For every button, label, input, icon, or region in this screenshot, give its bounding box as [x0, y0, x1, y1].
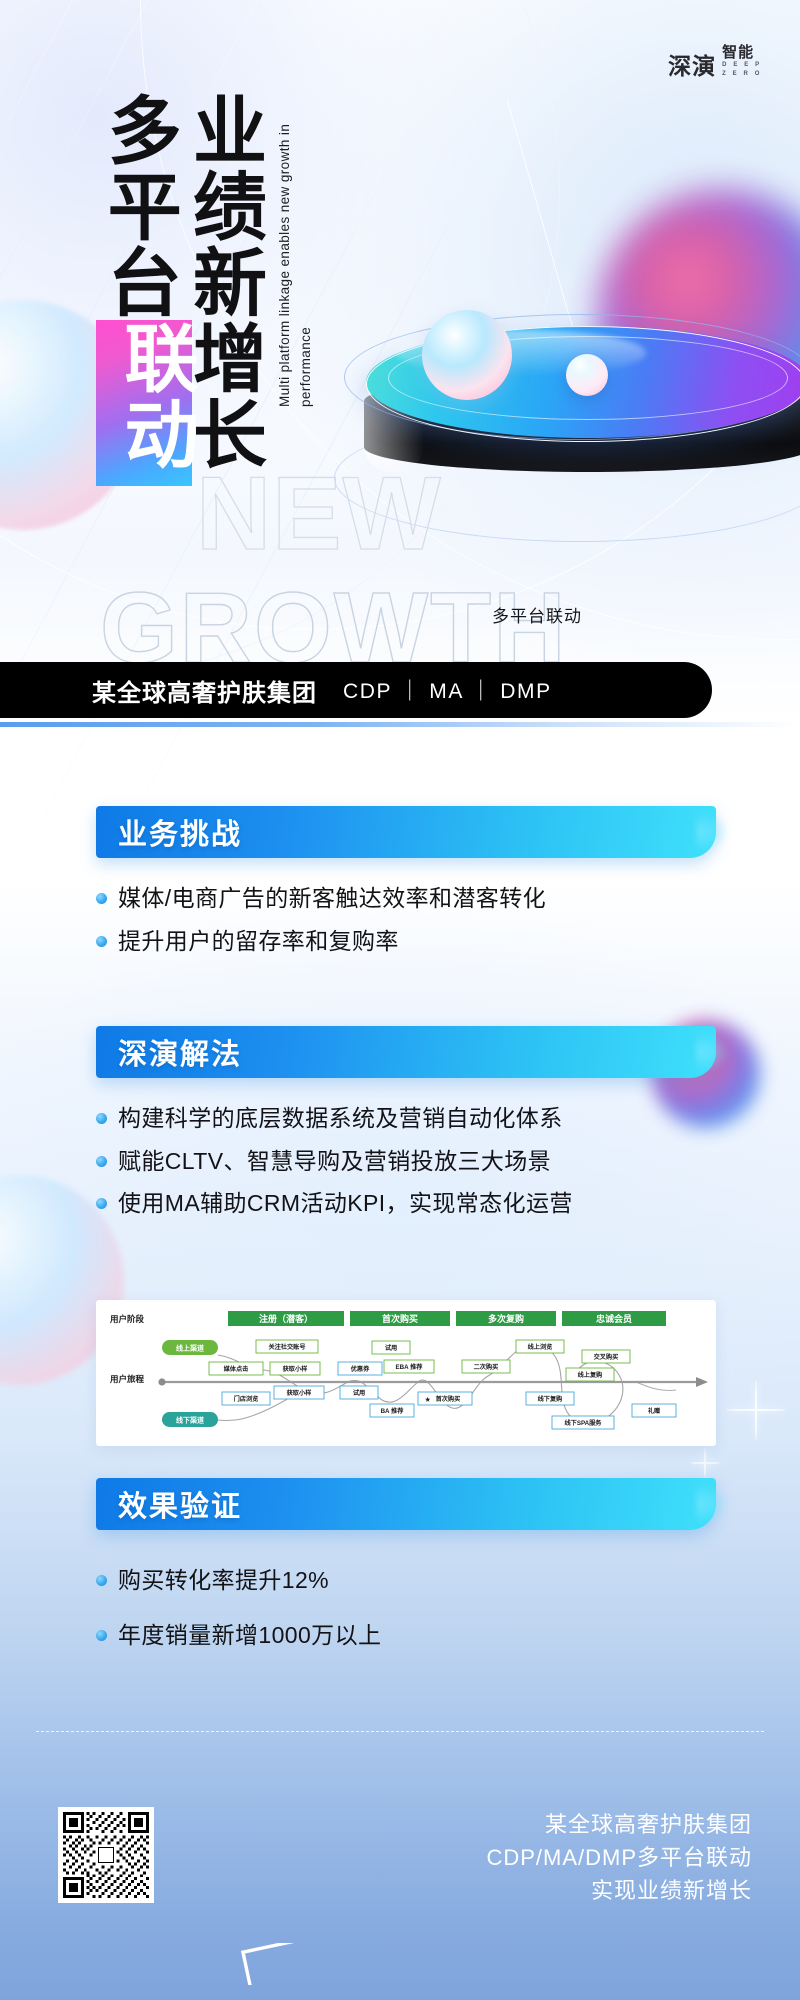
flow-axis-start-dot: [158, 1378, 165, 1385]
bullet-text: 使用MA辅助CRM活动KPI，实现常态化运营: [118, 1187, 573, 1220]
section-title-result: 效果验证: [118, 1483, 242, 1525]
bullet-dot-icon: [96, 1113, 107, 1124]
hero-english-subtitle: Multi platform linkage enables new growt…: [275, 102, 317, 407]
flow-node-label: 线下SPA服务: [564, 1419, 602, 1427]
footer-line-2: CDP/MA/DMP多平台联动: [486, 1841, 752, 1874]
hero-title-highlight-text: 联动: [96, 320, 192, 486]
flowchart-svg: 用户阶段 用户旅程 注册（潜客） 首次购买 多次复购 忠诚会员 线上渠道 线下渠…: [96, 1300, 716, 1446]
outline-word-new: NEW: [196, 462, 442, 566]
list-item: 赋能CLTV、智慧导购及营销投放三大场景: [96, 1145, 716, 1178]
flow-node-label: 媒体点击: [224, 1365, 249, 1373]
decorative-sphere-floating: [422, 310, 512, 400]
flow-channel-label-offline: 线下渠道: [176, 1416, 204, 1425]
flow-journey-curve: [218, 1344, 623, 1423]
flow-node-label: 交叉购买: [594, 1353, 619, 1361]
bullet-dot-icon: [96, 1198, 107, 1209]
section-chip-challenge: 业务挑战: [96, 806, 716, 858]
section-challenge: 业务挑战 媒体/电商广告的新客触达效率和潜客转化 提升用户的留存率和复购率: [96, 806, 716, 967]
footer-line-1: 某全球高奢护肤集团: [486, 1808, 752, 1841]
flow-node-label: 线上复购: [578, 1371, 603, 1379]
flow-node-label: BA 推荐: [381, 1407, 405, 1415]
bullet-text: 购买转化率提升12%: [118, 1564, 329, 1597]
section-title-challenge: 业务挑战: [118, 811, 242, 853]
bullet-text: 年度销量新增1000万以上: [118, 1619, 381, 1652]
section-chip-result: 效果验证: [96, 1478, 716, 1530]
section-result: 效果验证 购买转化率提升12% 年度销量新增1000万以上: [96, 1478, 716, 1661]
bullet-dot-icon: [96, 1575, 107, 1586]
flow-node-label: 获取小样: [282, 1365, 308, 1373]
flow-node-label: 关注社交账号: [268, 1343, 305, 1351]
flow-node-group-online: 关注社交账号 媒体点击 获取小样 试用 EBA 推荐 二次购买 线上浏览 交叉购…: [209, 1340, 630, 1381]
qr-code-image: [63, 1812, 149, 1898]
flow-node-label: 礼赠: [648, 1407, 660, 1415]
flow-stage-label: 多次复购: [488, 1313, 524, 1324]
list-item: 年度销量新增1000万以上: [96, 1619, 716, 1652]
bullet-dot-icon: [96, 936, 107, 947]
bullet-dot-icon: [96, 893, 107, 904]
flow-stage-label: 忠诚会员: [596, 1313, 632, 1324]
flow-node-label: 优惠券: [351, 1365, 370, 1373]
list-item: 使用MA辅助CRM活动KPI，实现常态化运营: [96, 1187, 716, 1220]
decorative-sphere-on-podium: [566, 354, 608, 396]
section-chip-solution: 深演解法: [96, 1026, 716, 1078]
list-item: 构建科学的底层数据系统及营销自动化体系: [96, 1102, 716, 1135]
flow-node-label: 门店浏览: [234, 1395, 259, 1403]
bullet-text: 构建科学的底层数据系统及营销自动化体系: [118, 1102, 563, 1135]
bullet-text: 提升用户的留存率和复购率: [118, 925, 399, 958]
user-journey-flowchart: 用户阶段 用户旅程 注册（潜客） 首次购买 多次复购 忠诚会员 线上渠道 线下渠…: [96, 1300, 716, 1446]
flow-node-label: 试用: [385, 1344, 397, 1352]
banner-product-list: CDP ｜ MA ｜ DMP: [343, 675, 552, 705]
section-solution: 深演解法 构建科学的底层数据系统及营销自动化体系 赋能CLTV、智慧导购及营销投…: [96, 1026, 716, 1230]
flow-stage-label: 首次购买: [382, 1313, 418, 1324]
hero-banner: 某全球高奢护肤集团 CDP ｜ MA ｜ DMP: [0, 662, 712, 718]
banner-underline: [0, 722, 800, 727]
flow-node-star-icon: ★: [424, 1397, 431, 1404]
hero-side-note: 多平台联动: [492, 602, 582, 627]
flow-tail-curve: [636, 1382, 676, 1391]
qr-code[interactable]: [58, 1807, 154, 1903]
bullet-list-solution: 构建科学的底层数据系统及营销自动化体系 赋能CLTV、智慧导购及营销投放三大场景…: [96, 1102, 716, 1220]
flow-node-label: EBA 推荐: [396, 1363, 424, 1371]
bullet-list-result: 购买转化率提升12% 年度销量新增1000万以上: [96, 1564, 716, 1651]
flow-node-label: 首次购买: [436, 1395, 461, 1403]
flow-node-label: 获取小样: [286, 1389, 312, 1397]
flow-row-label-journey: 用户旅程: [109, 1374, 145, 1384]
footer-divider: [36, 1731, 764, 1732]
flow-node-label: 试用: [353, 1389, 365, 1397]
list-item: 提升用户的留存率和复购率: [96, 925, 716, 958]
section-title-solution: 深演解法: [118, 1031, 242, 1073]
flow-node-label: 线下复购: [538, 1395, 563, 1403]
poster-root: 深演 智能 D E E P Z E R O NEW GROWTH 多平台 联动 …: [0, 0, 800, 2000]
footer-line-3: 实现业绩新增长: [486, 1874, 752, 1907]
bullet-dot-icon: [96, 1156, 107, 1167]
hero-title-block: 多平台 联动 业绩新增长 Multi platform linkage enab…: [102, 92, 316, 472]
bullet-text: 赋能CLTV、智慧导购及营销投放三大场景: [118, 1145, 551, 1178]
flow-stage-label: 注册（潜客）: [259, 1313, 313, 1324]
bullet-list-challenge: 媒体/电商广告的新客触达效率和潜客转化 提升用户的留存率和复购率: [96, 882, 716, 957]
flow-row-label-stage: 用户阶段: [109, 1314, 145, 1324]
flow-node-label: 线上浏览: [528, 1343, 553, 1351]
hero-title-left-column: 多平台 联动: [102, 92, 175, 320]
list-item: 购买转化率提升12%: [96, 1564, 716, 1597]
flow-axis-arrow: [696, 1377, 708, 1387]
banner-company-name: 某全球高奢护肤集团: [92, 673, 317, 708]
hero-title-left-text: 多平台: [97, 92, 180, 320]
flow-channel-label-online: 线上渠道: [176, 1344, 204, 1353]
flow-node-label: 二次购买: [474, 1363, 499, 1371]
decorative-corner-arrow: [236, 1943, 302, 1985]
footer-text-block: 某全球高奢护肤集团 CDP/MA/DMP多平台联动 实现业绩新增长: [486, 1808, 752, 1907]
bullet-text: 媒体/电商广告的新客触达效率和潜客转化: [118, 882, 546, 915]
bullet-dot-icon: [96, 1630, 107, 1641]
hero-title-right-column: 业绩新增长: [187, 92, 260, 472]
list-item: 媒体/电商广告的新客触达效率和潜客转化: [96, 882, 716, 915]
